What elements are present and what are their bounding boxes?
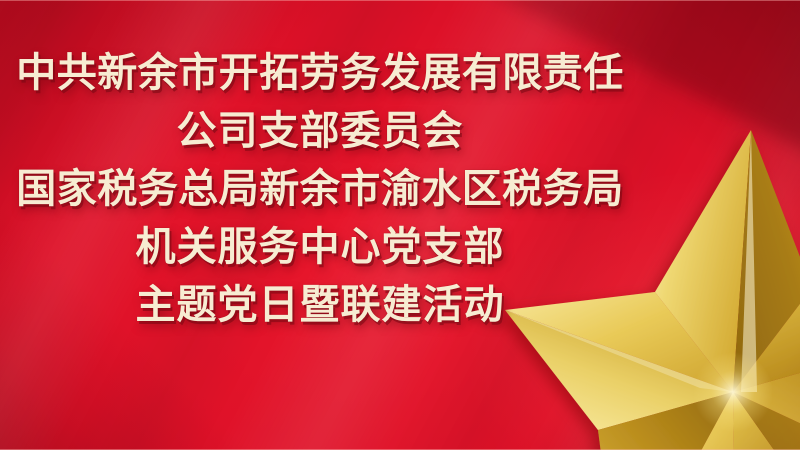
headline-line-4: 机关服务中心党支部 xyxy=(0,218,640,276)
headline-block: 中共新余市开拓劳务发展有限责任 公司支部委员会 国家税务总局新余市渝水区税务局 … xyxy=(0,44,640,334)
headline-line-3: 国家税务总局新余市渝水区税务局 xyxy=(0,160,640,218)
headline-line-1: 中共新余市开拓劳务发展有限责任 xyxy=(0,44,640,102)
poster-canvas: 中共新余市开拓劳务发展有限责任 公司支部委员会 国家税务总局新余市渝水区税务局 … xyxy=(0,0,800,450)
headline-line-5: 主题党日暨联建活动 xyxy=(0,276,640,334)
headline-line-2: 公司支部委员会 xyxy=(0,102,640,160)
